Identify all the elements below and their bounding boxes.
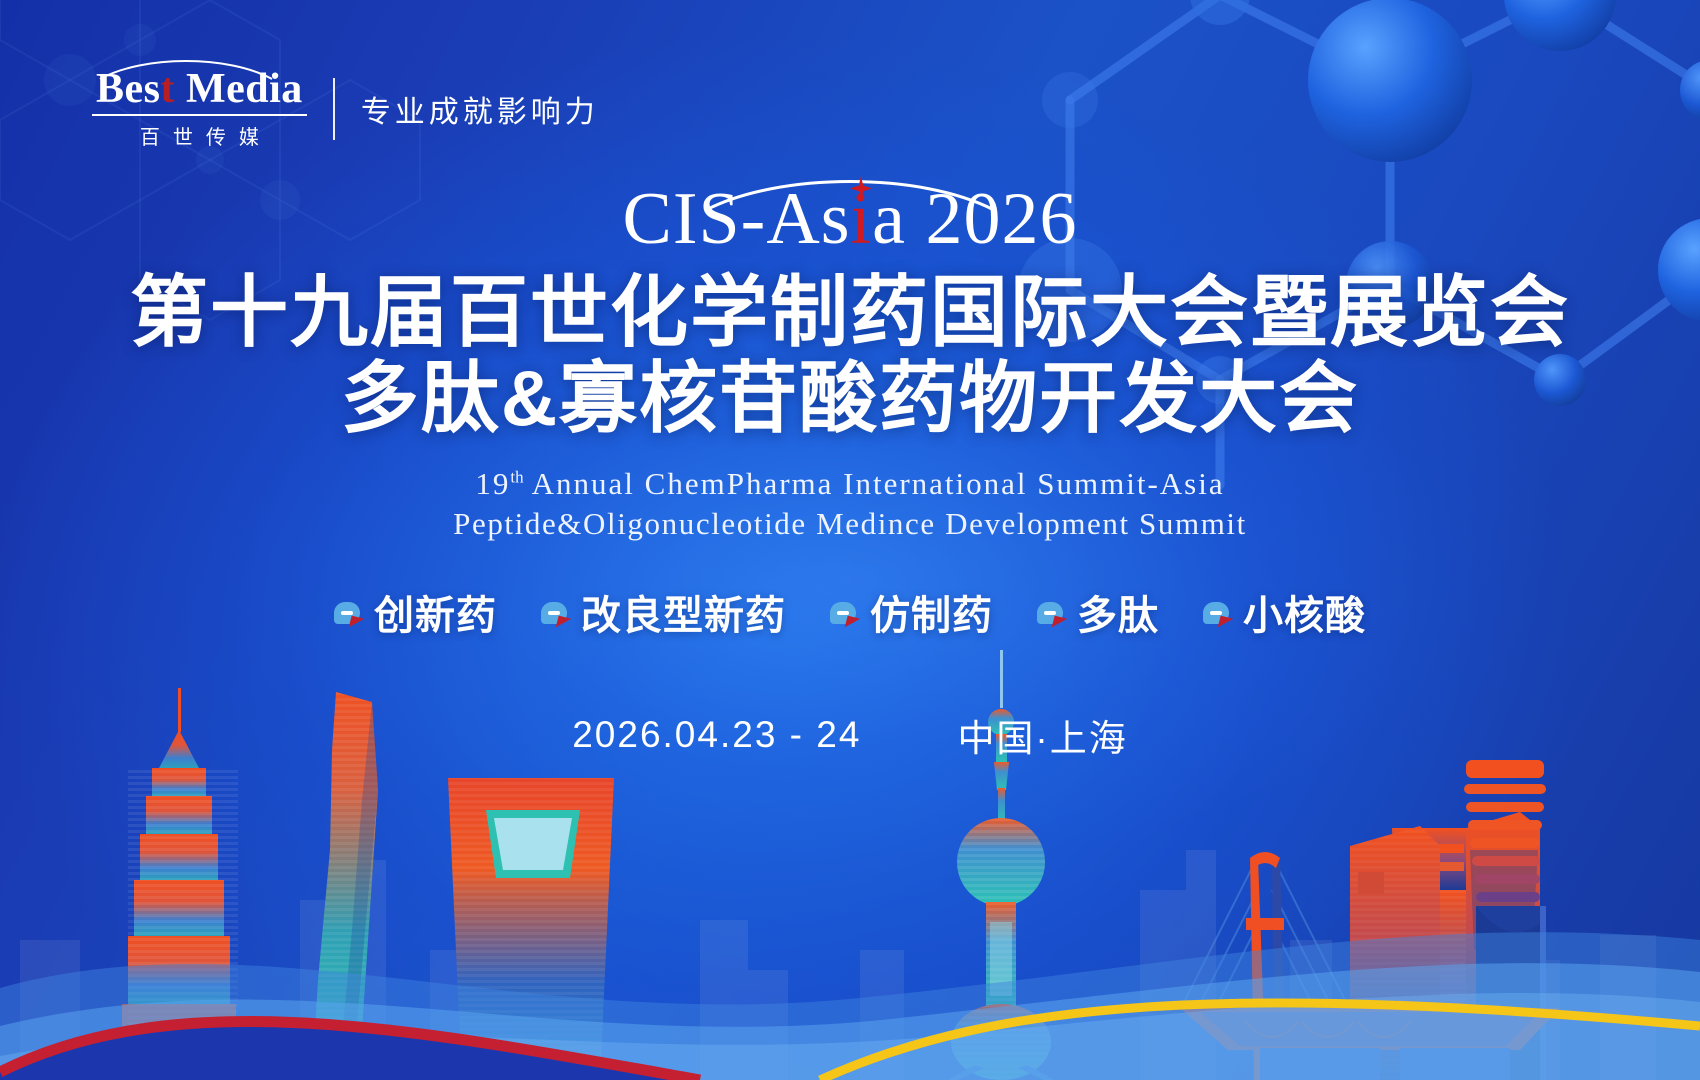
- en-title-line-1-rest: Annual ChemPharma International Summit-A…: [524, 466, 1225, 501]
- conference-poster: Best Media 百世传媒 专业成就影响力: [0, 0, 1700, 1080]
- topic-item[interactable]: 改良型新药: [541, 596, 786, 636]
- speech-bubble-icon: [1037, 602, 1067, 630]
- speech-bubble-icon: [334, 602, 364, 630]
- event-code-wrap: CIS-Asia 2026: [0, 182, 1700, 256]
- right-cylinder-tower: [1464, 760, 1546, 1080]
- topic-item[interactable]: 小核酸: [1203, 596, 1366, 636]
- topic-item[interactable]: 多肽: [1037, 596, 1159, 636]
- en-title-line-1: 19th Annual ChemPharma International Sum…: [475, 466, 1224, 501]
- topic-item[interactable]: 创新药: [334, 596, 497, 636]
- swfc-tower: [448, 778, 614, 1080]
- poster-content: CIS-Asia 2026 第十九届百世化学制药国际大会暨展览会 多肽&寡核苷酸…: [0, 0, 1700, 762]
- event-code: CIS-Asia 2026: [0, 182, 1700, 256]
- topic-label: 创新药: [374, 596, 497, 636]
- en-title-ordinal-number: 19: [475, 466, 510, 501]
- wave-decoration: [0, 820, 1700, 1080]
- nanpu-bridge: [1130, 852, 1440, 1080]
- event-code-red-i: i: [851, 178, 873, 260]
- topic-list: 创新药 改良型新药 仿制药 多肽 小核酸: [0, 596, 1700, 636]
- topic-label: 仿制药: [870, 596, 993, 636]
- sparkle-icon: [850, 176, 872, 202]
- speech-bubble-icon: [830, 602, 860, 630]
- event-date: 2026.04.23 - 24: [572, 714, 861, 756]
- topic-item[interactable]: 仿制药: [830, 596, 993, 636]
- conference-title-en: 19th Annual ChemPharma International Sum…: [0, 464, 1700, 545]
- conference-title-cn: 第十九届百世化学制药国际大会暨展览会 多肽&寡核苷酸药物开发大会: [0, 270, 1700, 442]
- event-code-pre: CIS-As: [623, 178, 851, 260]
- event-code-post: a 2026: [872, 178, 1077, 260]
- cn-title-line-1: 第十九届百世化学制药国际大会暨展览会: [130, 268, 1570, 356]
- speech-bubble-icon: [541, 602, 571, 630]
- en-title-line-2: Peptide&Oligonucleotide Medince Developm…: [0, 504, 1700, 544]
- right-towers: [1350, 812, 1540, 1080]
- topic-label: 多肽: [1077, 596, 1159, 636]
- event-meta: 2026.04.23 - 24 中国·上海: [0, 708, 1700, 762]
- waterfront-platform: [1180, 1008, 1560, 1080]
- event-venue: 中国·上海: [957, 708, 1127, 762]
- en-title-ordinal-suffix: th: [510, 467, 523, 486]
- cn-title-line-2: 多肽&寡核苷酸药物开发大会: [0, 356, 1700, 442]
- topic-label: 改良型新药: [581, 596, 786, 636]
- topic-label: 小核酸: [1243, 596, 1366, 636]
- speech-bubble-icon: [1203, 602, 1233, 630]
